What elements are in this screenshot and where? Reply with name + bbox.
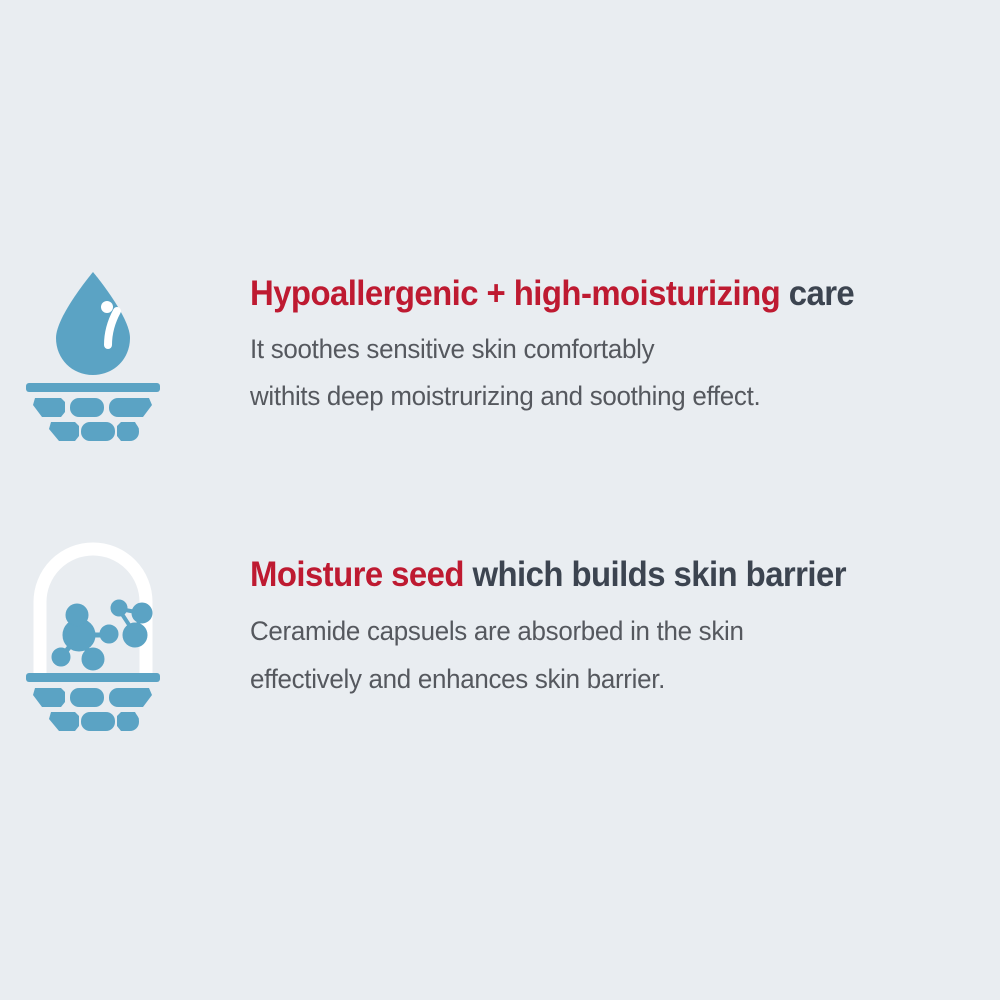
feature-icon-container (0, 533, 250, 732)
feature-block-moisture-seed: Moisture seed which builds skin barrier … (0, 533, 1000, 732)
feature-heading-highlight: Moisture seed (250, 555, 464, 594)
feature-body-line: withits deep moistrurizing and soothing … (250, 373, 970, 420)
feature-body-line: It soothes sensitive skin comfortably (250, 326, 970, 373)
infographic-page: Hypoallergenic + high-moisturizing care … (0, 0, 1000, 1000)
water-droplet-shape (56, 272, 130, 375)
molecule-cluster-left-shape (52, 604, 118, 670)
moisture-seed-molecules-on-skin-layers-icon (25, 537, 225, 732)
feature-heading-rest: care (780, 274, 854, 313)
feature-heading-highlight: Hypoallergenic + high-moisturizing (250, 274, 780, 313)
water-droplet-on-skin-layers-icon (25, 252, 225, 442)
feature-heading-rest: which builds skin barrier (464, 555, 846, 594)
feature-icon-container (0, 248, 250, 442)
feature-block-hypoallergenic: Hypoallergenic + high-moisturizing care … (0, 248, 1000, 442)
feature-text-container: Hypoallergenic + high-moisturizing care … (250, 248, 1000, 420)
skin-layers-bowl-shape (26, 383, 160, 441)
feature-heading: Hypoallergenic + high-moisturizing care (250, 274, 955, 314)
feature-body-line: Ceramide capsuels are absorbed in the sk… (250, 607, 970, 655)
feature-text-container: Moisture seed which builds skin barrier … (250, 533, 1000, 703)
feature-heading: Moisture seed which builds skin barrier (250, 555, 955, 595)
skin-layers-bowl-shape (26, 673, 160, 731)
feature-body-line: effectively and enhances skin barrier. (250, 655, 970, 703)
